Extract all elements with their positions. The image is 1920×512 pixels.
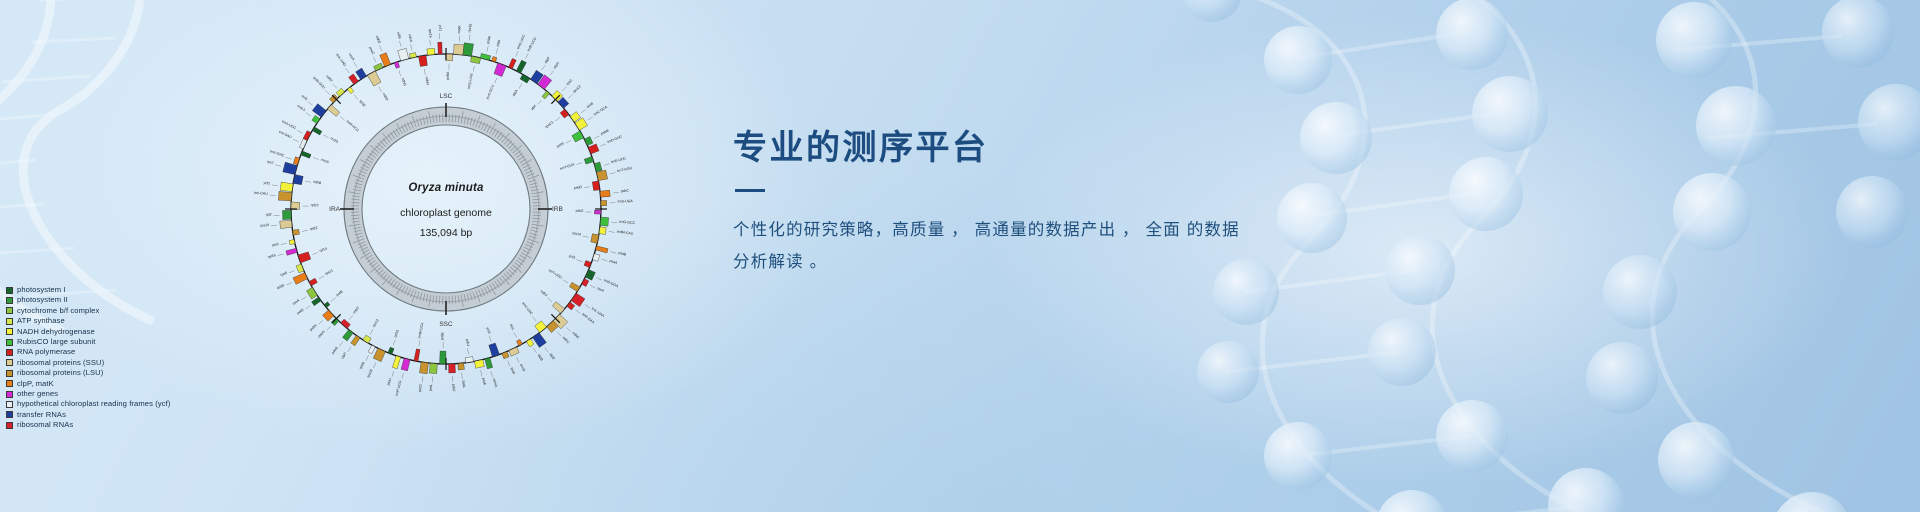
gene-label: petL [429, 384, 434, 391]
gene-leader-line [566, 328, 570, 332]
gene-leader-line [590, 285, 595, 288]
gene-label: ndhF [325, 74, 333, 83]
legend-item: RubisCO large subunit [6, 337, 171, 347]
gene-feature-box [329, 94, 337, 102]
legend-item-label: photosystem I [17, 285, 66, 295]
gene-label: rpoC1 [544, 120, 554, 129]
gene-label: psbK [486, 35, 492, 44]
gene-label: psbD [574, 185, 583, 190]
gene-label: atpB [537, 353, 545, 362]
gene-leader-line [333, 84, 337, 88]
legend-item: cytochrome b/f complex [6, 306, 171, 316]
gene-label: psbA [446, 71, 450, 80]
gene-label: trnV-UAC [521, 301, 534, 315]
gene-feature-box [474, 360, 484, 369]
gene-label: clpP [340, 351, 348, 359]
gene-label: rpoB [586, 101, 595, 109]
gene-label: trnA-UGC [281, 120, 297, 131]
gene-label: rps8 [280, 271, 288, 277]
gene-leader-line [516, 51, 518, 56]
gene-leader-line [519, 84, 522, 89]
hero-description-line1: 个性化的研究策略，高质量 ， 高通量的数据产出 ， 全面 [733, 221, 1181, 239]
gene-feature-box [520, 74, 530, 83]
svg-text:SSC: SSC [439, 321, 453, 328]
gene-leader-line [542, 65, 545, 70]
gene-label: rpoC2 [572, 84, 582, 93]
gene-feature-box [600, 217, 609, 226]
gene-label: psbL [461, 380, 466, 388]
gene-label: trnN-GUU [312, 76, 326, 90]
legend-item: ribosomal proteins (SSU) [6, 358, 171, 368]
gene-feature-box [293, 174, 303, 184]
gene-leader-line [525, 53, 528, 58]
gene-leader-line [370, 329, 373, 334]
gene-label: atpF [544, 56, 551, 64]
gene-leader-line [602, 259, 608, 261]
gene-leader-line [594, 136, 599, 139]
gene-label: trnQ-UUG [467, 73, 474, 89]
gene-label: psaB [618, 251, 627, 257]
gene-label: trnW-CCA [417, 322, 424, 339]
gene-label: psaA [609, 259, 618, 265]
gene-feature-box [419, 55, 428, 66]
gene-label: rps11 [324, 268, 333, 276]
gene-label: rrn16 [320, 158, 329, 165]
legend-color-swatch [6, 307, 13, 314]
gene-feature-box [289, 240, 295, 245]
gene-feature-box [296, 264, 304, 273]
gene-leader-line [481, 370, 482, 376]
legend-item-label: hypothetical chloroplast reading frames … [17, 399, 171, 409]
gene-feature-box [458, 363, 465, 370]
gene-feature-box [516, 60, 526, 73]
gene-label: trnL-UAA [591, 307, 606, 319]
gene-leader-line [576, 310, 581, 314]
gene-leader-line [568, 94, 572, 98]
gene-leader-line [495, 78, 497, 84]
legend-item: transfer RNAs [6, 410, 171, 420]
legend-item-label: transfer RNAs [17, 410, 66, 420]
gene-leader-line [327, 326, 331, 330]
gene-feature-box [599, 227, 606, 235]
gene-feature-box [388, 347, 394, 354]
legend-item: hypothetical chloroplast reading frames … [6, 399, 171, 409]
gene-feature-box [584, 156, 593, 164]
genome-legend: photosystem Iphotosystem IIcytochrome b/… [6, 285, 171, 430]
gene-feature-box [398, 48, 409, 60]
gene-leader-line [379, 87, 382, 92]
gene-label: rrn4.5 [296, 104, 306, 113]
legend-item: RNA polymerase [6, 347, 171, 357]
gene-feature-box [567, 302, 575, 310]
gene-feature-box [440, 351, 446, 364]
gene-feature-box [367, 71, 381, 86]
gene-feature-box [298, 252, 311, 263]
gene-label: rpoA [292, 298, 301, 306]
gene-feature-box [280, 182, 293, 192]
gene-feature-box [312, 115, 320, 123]
gene-leader-line [588, 117, 593, 120]
gene-feature-box [293, 273, 308, 285]
gene-leader-line [325, 90, 329, 94]
legend-color-swatch [6, 297, 13, 304]
gene-feature-box [594, 210, 601, 214]
gene-leader-line [533, 348, 536, 353]
gene-leader-line [604, 164, 610, 166]
legend-color-swatch [6, 287, 13, 294]
gene-label: atpI [530, 104, 537, 111]
gene-feature-box [592, 181, 600, 191]
gene-feature-box [454, 44, 464, 55]
gene-feature-box [291, 202, 300, 209]
gene-leader-line [289, 271, 295, 273]
gene-feature-box [363, 335, 371, 343]
gene-label: trnC-GCA [593, 105, 609, 117]
gene-leader-line [468, 348, 469, 354]
gene-leader-line [469, 34, 470, 40]
gene-label: trnF-GAA [581, 312, 596, 325]
gene-feature-box [394, 62, 399, 69]
gene-leader-line [272, 185, 278, 186]
gene-leader-line [339, 342, 343, 347]
legend-item-label: ribosomal proteins (LSU) [17, 368, 103, 378]
legend-color-swatch [6, 339, 13, 346]
gene-feature-box [584, 136, 593, 145]
legend-item: clpP, matK [6, 379, 171, 389]
gene-feature-box [533, 333, 547, 348]
gene-label: rpl36 [276, 283, 285, 290]
gene-feature-box [449, 364, 456, 373]
gene-leader-line [610, 252, 616, 254]
gene-feature-box [446, 54, 453, 61]
gene-label: trnR-UCU [527, 36, 538, 52]
gene-label: trnY-GUA [560, 162, 576, 171]
legend-color-swatch [6, 411, 13, 418]
gene-leader-line [514, 332, 517, 337]
inner-ruler-tick [533, 202, 541, 203]
gene-feature-box [286, 248, 297, 255]
gene-label: cemA [492, 378, 498, 388]
gene-label: psaJ [386, 377, 392, 386]
gene-leader-line [331, 298, 336, 302]
gene-feature-box [601, 200, 607, 205]
gene-label: ycf3 [568, 254, 575, 260]
legend-item: ribosomal proteins (LSU) [6, 368, 171, 378]
gene-leader-line [419, 340, 420, 346]
gene-label: rpl32 [358, 99, 366, 108]
gene-leader-line [563, 280, 568, 283]
gene-feature-box [419, 362, 428, 374]
gene-label: trnP-UGG [395, 380, 403, 396]
legend-item-label: NADH dehydrogenase [17, 327, 95, 337]
gene-feature-box [582, 279, 589, 287]
gene-feature-box [509, 347, 519, 356]
gene-label: psbZ [576, 209, 585, 213]
gene-label: ndhA [407, 34, 413, 43]
legend-color-swatch [6, 359, 13, 366]
gene-feature-box [585, 270, 595, 281]
gene-leader-line [346, 68, 349, 73]
gene-leader-line [293, 139, 298, 141]
gene-label: trnS-GCU [486, 84, 495, 100]
legend-item-label: ATP synthase [17, 316, 65, 326]
gene-feature-box [282, 210, 291, 219]
gene-label: ndhD [382, 92, 390, 102]
gene-leader-line [305, 181, 311, 182]
gene-leader-line [302, 230, 308, 231]
gene-label: petA [481, 378, 487, 387]
gene-feature-box [572, 131, 584, 142]
gene-label: rrn5 [301, 94, 308, 101]
gene-label: psbC [621, 188, 630, 193]
gene-leader-line [538, 100, 542, 105]
gene-leader-line [584, 187, 590, 188]
gene-feature-box [535, 321, 547, 333]
gene-leader-line [550, 70, 554, 75]
gene-label: rps15 [428, 29, 433, 38]
gene-leader-line [373, 57, 376, 62]
genome-map-svg: LSC IRB SSC IRA psbAmatKrps16trnQ-UUGpsb… [236, 4, 656, 414]
gene-leader-line [473, 66, 474, 72]
legend-color-swatch [6, 318, 13, 325]
gene-feature-box [401, 358, 410, 371]
gene-leader-line [349, 315, 353, 320]
gene-leader-line [555, 117, 560, 121]
svg-text:IRA: IRA [329, 206, 341, 213]
gene-label: psbH [309, 323, 318, 332]
inner-ruler-tick [351, 202, 359, 203]
gene-feature-box [331, 318, 339, 326]
gene-label: petD [296, 308, 305, 316]
gene-leader-line [366, 355, 369, 360]
gene-leader-line [306, 306, 311, 309]
gene-label: trnD-GUC [607, 134, 623, 144]
gene-leader-line [585, 305, 590, 308]
gene-leader-line [340, 116, 345, 120]
gene-leader-line [489, 336, 491, 342]
gene-feature-box [560, 109, 569, 118]
gene-leader-line [271, 225, 277, 226]
gene-leader-line [286, 282, 291, 285]
gene-feature-box [591, 234, 599, 244]
gene-feature-box [312, 104, 326, 117]
gene-leader-line [581, 109, 586, 112]
legend-item: other genes [6, 389, 171, 399]
gene-feature-box [492, 56, 497, 62]
gene-leader-line [392, 371, 394, 377]
gene-feature-box [489, 343, 500, 357]
gene-leader-line [297, 130, 302, 133]
gene-label: psbB [331, 346, 339, 355]
gene-feature-box [427, 48, 435, 55]
gene-feature-box [596, 246, 609, 253]
gene-leader-line [609, 231, 615, 232]
gene-label: ndhI [396, 31, 402, 39]
gene-leader-line [600, 144, 606, 146]
gene-leader-line [613, 192, 619, 193]
gene-label: psaC [368, 46, 375, 56]
gene-label: psbJ [465, 339, 470, 347]
page-title: 专业的测序平台 [733, 130, 1293, 167]
gene-leader-line [393, 340, 395, 346]
gene-feature-box [600, 190, 610, 197]
gene-label: rpl20 [359, 361, 366, 370]
gene-leader-line [532, 316, 536, 321]
legend-item-label: RNA polymerase [17, 347, 75, 357]
gene-label: psbE [440, 331, 444, 340]
gene-feature-box [465, 357, 473, 363]
gene-leader-line [306, 113, 311, 116]
gene-feature-box [485, 358, 493, 369]
gene-leader-line [286, 157, 292, 159]
chloroplast-genome-map: LSC IRB SSC IRA psbAmatKrps16trnQ-UUGpsb… [236, 4, 656, 414]
gene-leader-line [278, 254, 284, 256]
gene-label: trnV-GAC [269, 149, 285, 158]
gene-label: psaI [510, 367, 516, 375]
hero-description: 个性化的研究策略，高质量 ， 高通量的数据产出 ， 全面 的数据分析解读 。 [733, 214, 1253, 278]
gene-leader-line [281, 243, 287, 244]
gene-label: rpl33 [393, 329, 400, 338]
gene-leader-line [319, 276, 324, 279]
gene-label: trnT-UGU [548, 269, 563, 280]
gene-label: rps16 [467, 23, 472, 32]
gene-leader-line [399, 41, 401, 47]
gene-leader-line [508, 361, 510, 367]
gene-feature-box [438, 42, 442, 54]
gene-label: rps19 [260, 223, 269, 228]
gene-leader-line [583, 236, 589, 237]
gene-feature-box [429, 363, 437, 373]
gene-leader-line [354, 95, 358, 100]
gene-label: rpl23 [311, 203, 319, 207]
gene-feature-box [508, 58, 516, 68]
gene-label: trnI-GAU [278, 130, 293, 140]
hero-banner: LSC IRB SSC IRA psbAmatKrps16trnQ-UUGpsb… [0, 0, 1920, 512]
gene-leader-line [348, 347, 351, 352]
gene-leader-line [313, 157, 319, 159]
gene-label: rrn23 [330, 136, 339, 144]
gene-label: psbT [352, 305, 361, 314]
legend-color-swatch [6, 349, 13, 356]
gene-label: ndhE [375, 35, 382, 45]
gene-feature-box [463, 43, 474, 56]
gene-leader-line [399, 71, 401, 77]
inner-ruler-tick [439, 114, 440, 122]
gene-feature-box [414, 349, 420, 362]
legend-item: ribosomal RNAs [6, 420, 171, 430]
legend-item: photosystem I [6, 285, 171, 295]
gene-label: trnG-UCC [516, 33, 526, 49]
gene-label: rpl2 [266, 212, 272, 216]
gene-label: trnE-UUC [611, 156, 627, 164]
svg-text:LSC: LSC [440, 93, 453, 100]
gene-label: ndhK [571, 331, 580, 340]
gene-feature-box [306, 287, 317, 299]
gene-label: ndhJ [540, 289, 549, 297]
gene-leader-line [354, 62, 357, 67]
legend-item-label: other genes [17, 389, 58, 399]
gene-label: psbM [600, 129, 610, 136]
inner-ruler-tick [351, 215, 359, 216]
gene-label: rpl22 [310, 226, 318, 231]
gene-feature-box [280, 220, 292, 228]
legend-item-label: ribosomal RNAs [17, 420, 73, 430]
gene-label: ycf4 [485, 327, 491, 334]
gene-feature-box [312, 127, 322, 135]
gene-label: trnT-GGU [617, 166, 633, 173]
gene-label: trnL-UAG [335, 53, 347, 68]
legend-item: NADH dehydrogenase [6, 327, 171, 337]
gene-leader-line [566, 140, 571, 143]
gene-label: rps18 [366, 369, 373, 379]
legend-item-label: cytochrome b/f complex [17, 306, 99, 316]
gene-label: ycf2 [263, 181, 270, 186]
legend-item-label: RubisCO large subunit [17, 337, 96, 347]
gene-leader-line [548, 298, 553, 302]
gene-label: trnI-CAU [254, 191, 268, 196]
gene-label: rps2 [566, 78, 574, 86]
gene-label: ndhC [562, 336, 571, 345]
gene-label: petN [556, 141, 565, 148]
gene-leader-line [577, 260, 583, 262]
gene-leader-line [491, 371, 493, 377]
legend-color-swatch [6, 380, 13, 387]
legend-item: ATP synthase [6, 316, 171, 326]
gene-label: rps14 [572, 231, 581, 237]
gene-feature-box [293, 157, 299, 165]
gene-leader-line [557, 332, 561, 336]
gene-feature-box [324, 302, 330, 308]
gene-label: psbF [452, 384, 456, 392]
gene-label: rps3 [272, 242, 280, 247]
gene-label: rpl16 [268, 253, 277, 259]
gene-label: ndhG [400, 77, 407, 87]
gene-feature-box [374, 63, 383, 71]
gene-leader-line [424, 69, 425, 75]
gene-leader-line [487, 46, 489, 52]
gene-label: accD [519, 363, 526, 372]
legend-item-label: ribosomal proteins (SSU) [17, 358, 104, 368]
gene-feature-box [341, 319, 351, 328]
gene-feature-box [278, 191, 292, 201]
gene-label: ccsA [348, 53, 356, 62]
inner-ruler-tick [439, 296, 440, 304]
legend-item-label: clpP, matK [17, 379, 54, 389]
gene-feature-box [392, 356, 400, 369]
gene-feature-box [597, 170, 608, 181]
gene-leader-line [517, 357, 520, 362]
gene-leader-line [562, 87, 566, 91]
gene-leader-line [496, 48, 498, 54]
title-underline-rule [735, 189, 765, 192]
gene-label: petG [418, 384, 423, 392]
gene-feature-box [301, 151, 311, 158]
inner-ruler-tick [533, 215, 541, 216]
gene-leader-line [402, 373, 404, 379]
legend-color-swatch [6, 370, 13, 377]
gene-feature-box [351, 335, 360, 345]
legend-color-swatch [6, 391, 13, 398]
gene-leader-line [308, 102, 313, 106]
gene-feature-box [356, 68, 367, 80]
gene-feature-box [336, 88, 344, 96]
gene-label: atpA [512, 88, 519, 97]
legend-item-label: photosystem II [17, 295, 68, 305]
gene-label: psbI [495, 39, 501, 47]
gene-leader-line [275, 165, 281, 167]
gene-leader-line [380, 46, 382, 52]
gene-leader-line [596, 278, 601, 280]
